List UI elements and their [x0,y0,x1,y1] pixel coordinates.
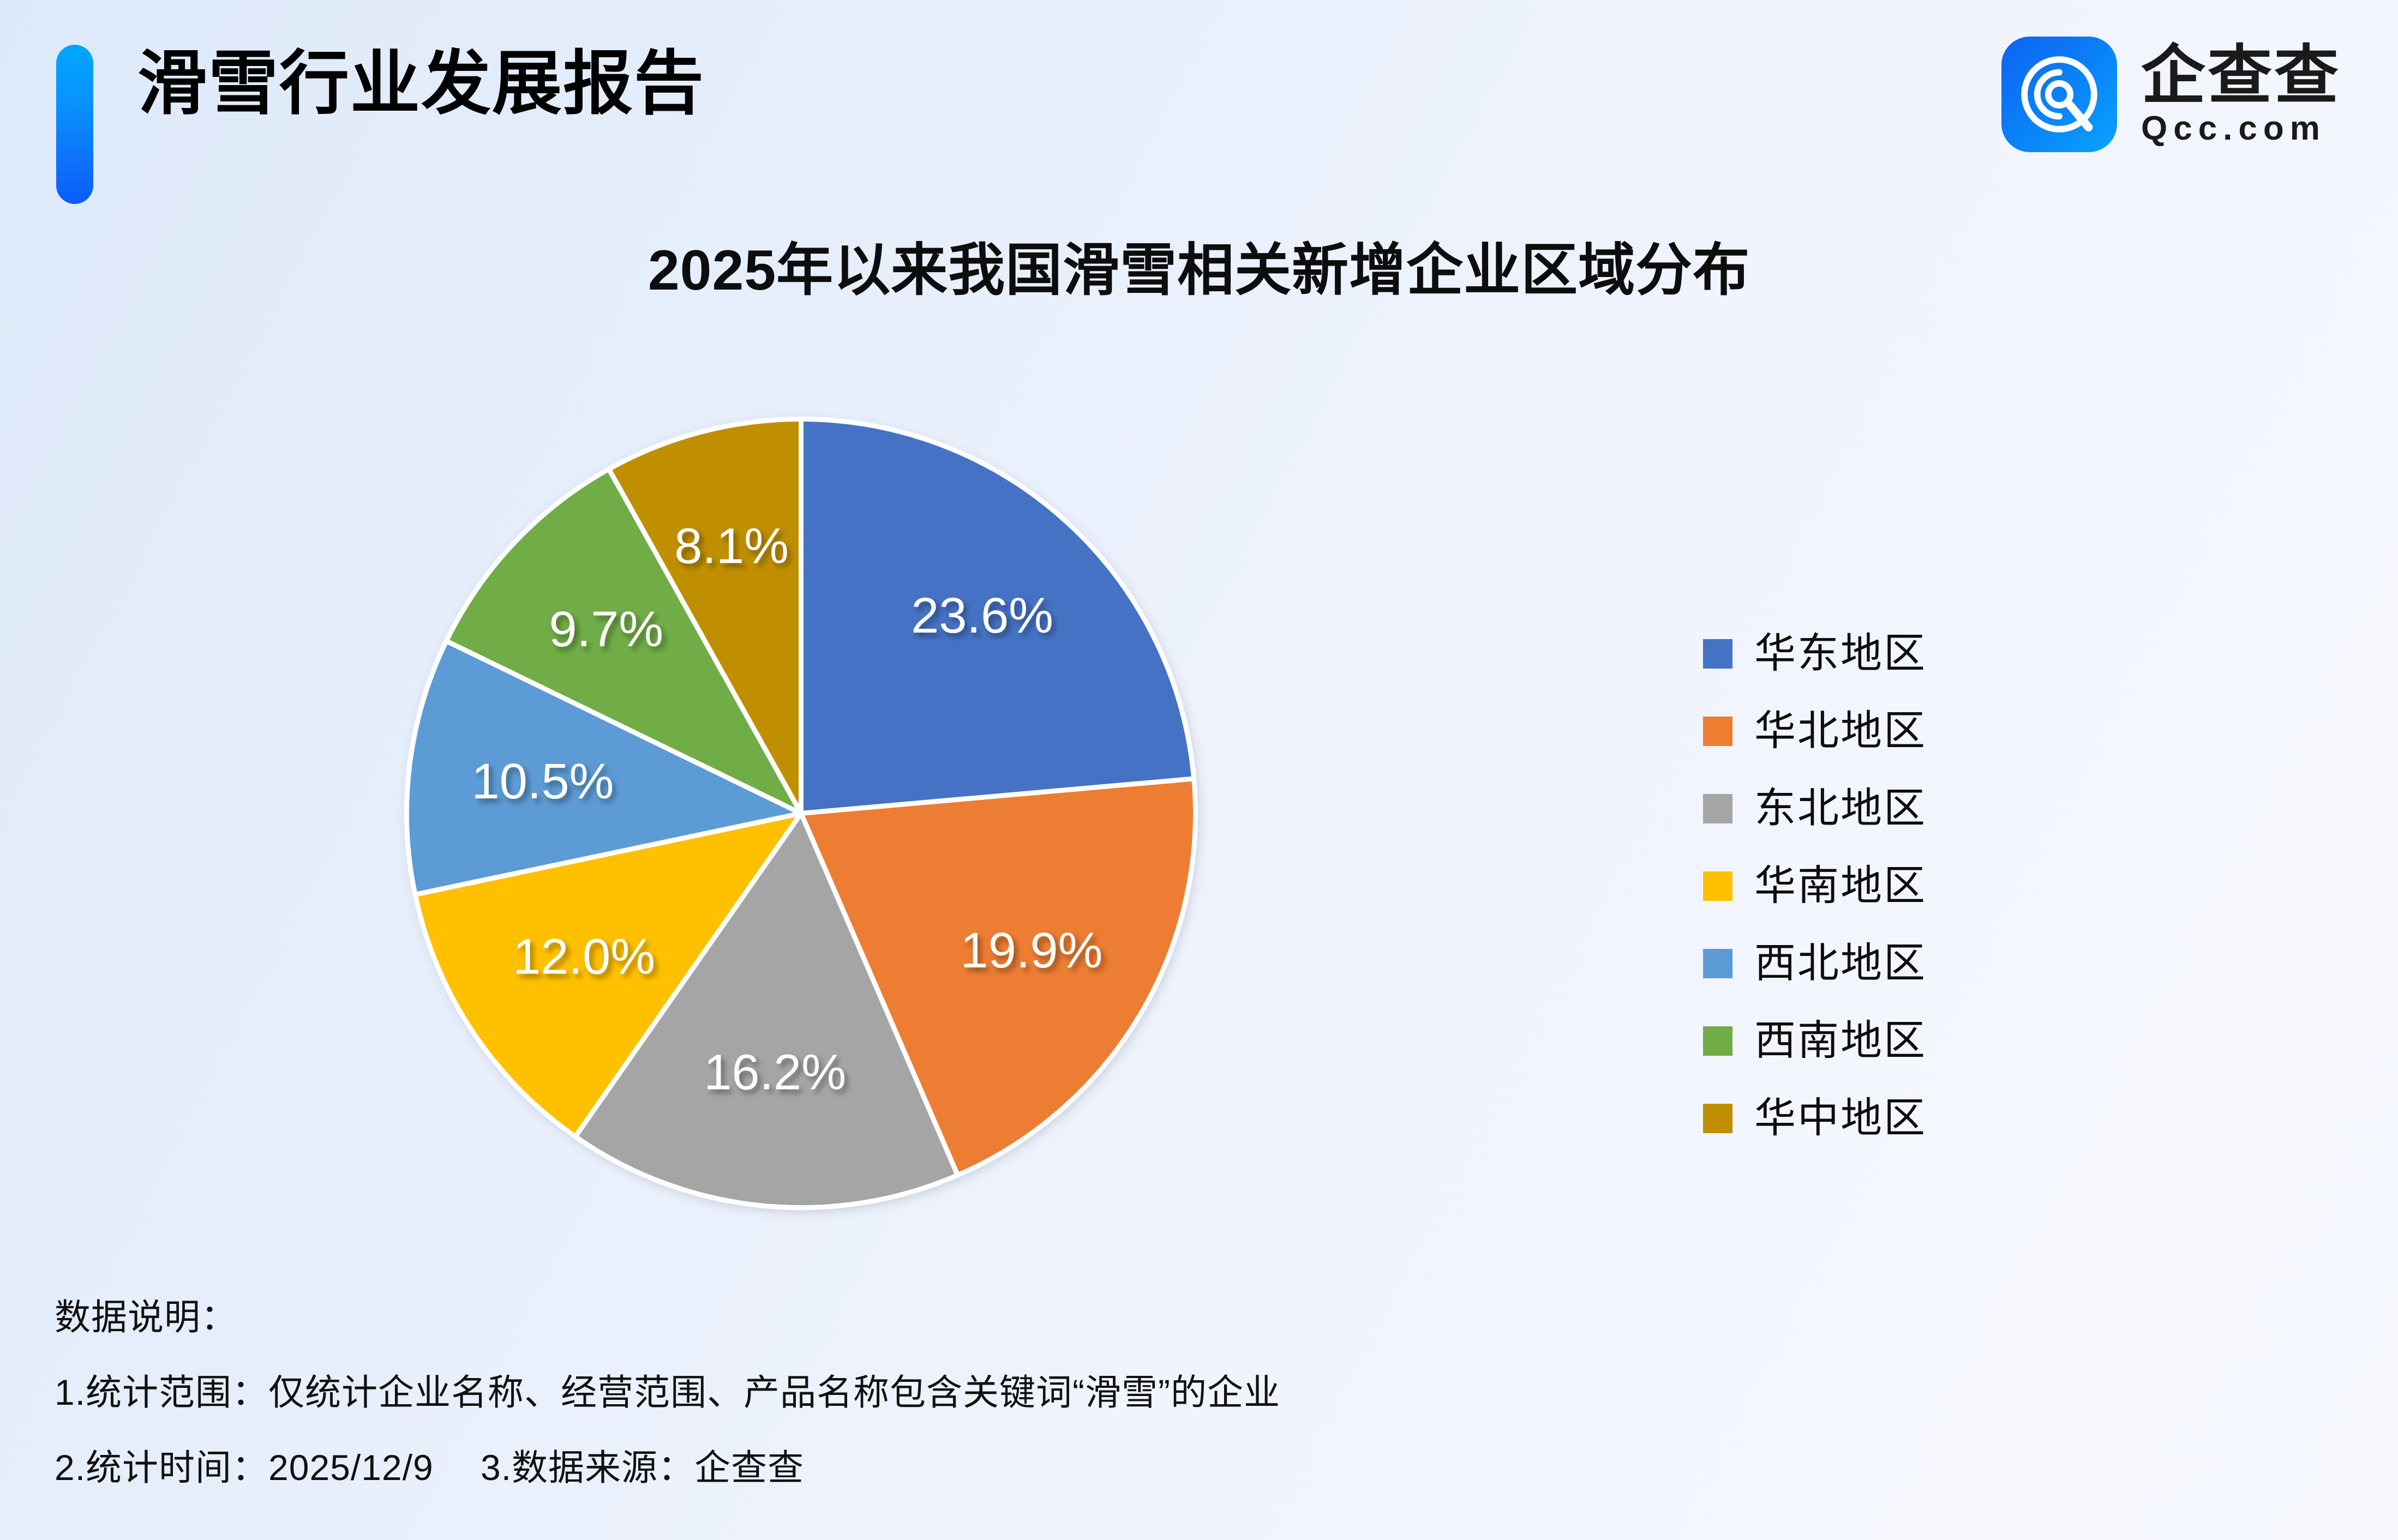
brand-name-cn: 企查查 [2141,43,2341,109]
legend-item-label: 华南地区 [1754,865,1927,907]
pie-slice-value-label: 10.5% [471,754,614,809]
legend-item[interactable]: 西北地区 [1703,925,1927,1002]
pie-chart: 23.6%19.9%16.2%12.0%10.5%9.7%8.1% [405,417,1197,1210]
legend-item[interactable]: 西南地区 [1703,1002,1927,1080]
legend-item[interactable]: 华东地区 [1703,615,1927,693]
page-header: 滑雪行业发展报告 企查查 Qcc.com [0,0,2398,218]
legend-swatch-icon [1703,794,1732,823]
footer-note-heading: 数据说明： [55,1299,1909,1335]
chart-title: 2025年以来我国滑雪相关新增企业区域分布 [0,224,2398,306]
brand-text: 企查查 Qcc.com [2141,43,2341,146]
legend-item-label: 西北地区 [1754,943,1927,984]
pie-slice-value-label: 19.9% [960,923,1102,978]
legend-swatch-icon [1703,949,1732,978]
legend-item-label: 华中地区 [1754,1098,1927,1139]
legend-swatch-icon [1703,871,1732,901]
qcc-spiral-q-logo-icon [2001,37,2117,152]
legend-swatch-icon [1703,1026,1732,1056]
legend-item[interactable]: 华南地区 [1703,847,1927,925]
legend-item-label: 华北地区 [1754,711,1927,752]
pie-chart-svg: 23.6%19.9%16.2%12.0%10.5%9.7%8.1% [405,417,1197,1210]
footer-notes: 数据说明： 1.统计范围：仅统计企业名称、经营范围、产品名称包含关键词“滑雪”的… [55,1299,1909,1485]
legend-item-label: 东北地区 [1754,788,1927,829]
footer-note-time-source: 2.统计时间：2025/12/9 3.数据来源：企查查 [55,1449,1909,1485]
chart-legend: 华东地区华北地区东北地区华南地区西北地区西南地区华中地区 [1703,615,1927,1157]
legend-item[interactable]: 华中地区 [1703,1080,1927,1157]
pie-slice-value-label: 9.7% [549,601,663,657]
legend-swatch-icon [1703,1104,1732,1133]
pie-slice-value-label: 16.2% [704,1044,846,1100]
pie-slice-value-label: 12.0% [513,929,655,985]
title-accent-bar [56,45,93,204]
pie-slice-value-label: 8.1% [674,519,789,574]
brand-logo: 企查查 Qcc.com [2001,37,2341,152]
pie-slice-value-label: 23.6% [911,588,1053,643]
legend-swatch-icon [1703,639,1732,669]
legend-item-label: 华东地区 [1754,633,1927,675]
legend-item[interactable]: 华北地区 [1703,693,1927,770]
legend-item-label: 西南地区 [1754,1020,1927,1062]
page-title: 滑雪行业发展报告 [137,44,705,124]
brand-name-en: Qcc.com [2141,111,2341,146]
legend-swatch-icon [1703,717,1732,746]
legend-item[interactable]: 东北地区 [1703,770,1927,847]
footer-note-scope: 1.统计范围：仅统计企业名称、经营范围、产品名称包含关键词“滑雪”的企业 [55,1374,1909,1410]
